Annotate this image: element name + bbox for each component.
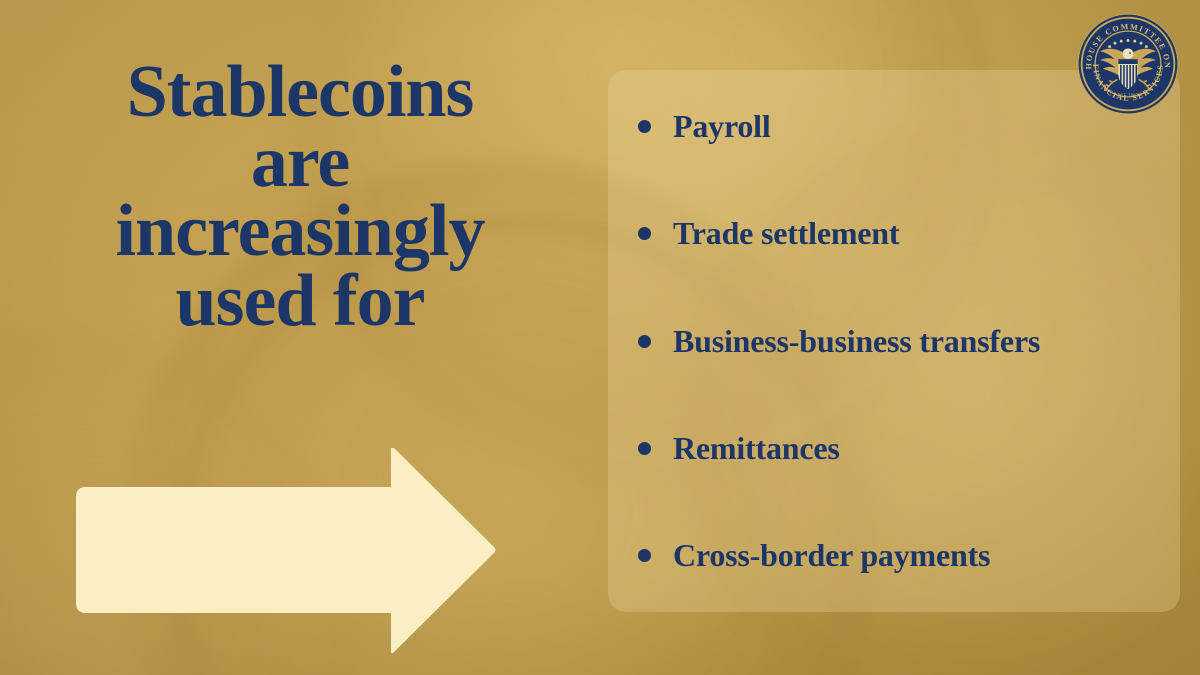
page-title-line-1: Stablecoins bbox=[0, 58, 600, 128]
list-item-label: Payroll bbox=[673, 108, 771, 145]
page-title-line-3: increasingly bbox=[0, 197, 600, 267]
list-item-label: Business-business transfers bbox=[673, 323, 1040, 360]
house-financial-services-seal-logo: HOUSE COMMITTEE ON FINANCIAL SERVICES bbox=[1070, 6, 1186, 122]
list-item-label: Trade settlement bbox=[673, 215, 899, 252]
page-title-line-2: are bbox=[0, 128, 600, 198]
bullet-list-panel: Payroll Trade settlement Business-busine… bbox=[608, 70, 1180, 612]
page-title-line-4: used for bbox=[0, 267, 600, 337]
page-title: Stablecoins are increasingly used for bbox=[0, 58, 600, 336]
list-item: Remittances bbox=[626, 430, 1158, 467]
bullet-dot-icon bbox=[638, 120, 651, 133]
list-item-label: Cross-border payments bbox=[673, 537, 990, 574]
bullet-dot-icon bbox=[638, 335, 651, 348]
bullet-dot-icon bbox=[638, 227, 651, 240]
list-item: Trade settlement bbox=[626, 215, 1158, 252]
seal-established-text: EST. 1865 bbox=[1118, 92, 1139, 97]
slide-canvas: S Stablecoins are increasingly used for … bbox=[0, 0, 1200, 675]
list-item: Cross-border payments bbox=[626, 537, 1158, 574]
list-item-label: Remittances bbox=[673, 430, 840, 467]
bullet-dot-icon bbox=[638, 442, 651, 455]
list-item: Business-business transfers bbox=[626, 323, 1158, 360]
right-arrow-icon bbox=[66, 448, 496, 654]
bullet-dot-icon bbox=[638, 549, 651, 562]
